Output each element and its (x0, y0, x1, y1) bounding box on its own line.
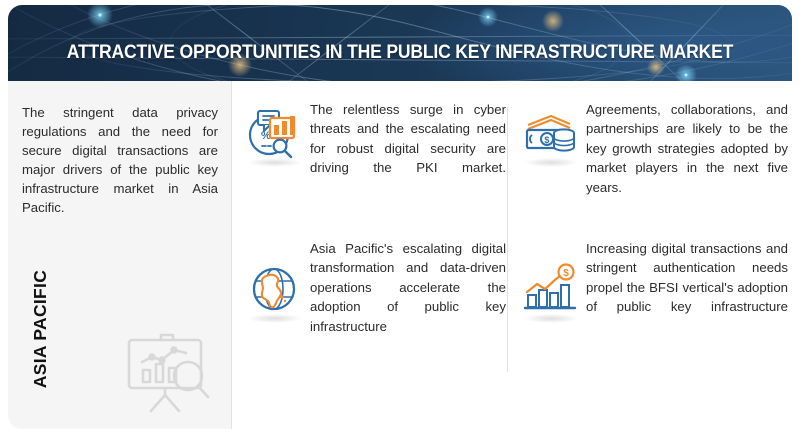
region-summary-panel: The stringent data privacy regulations a… (8, 81, 231, 429)
region-summary-text: The stringent data privacy regulations a… (22, 103, 218, 236)
growth-bar-chart-dollar-icon: $ (520, 259, 580, 319)
svg-text:$: $ (544, 135, 549, 145)
analytics-speech-bubble-search-icon: % (244, 103, 304, 163)
icon-shadow (524, 314, 578, 323)
insight-card-text: Increasing digital transactions and stri… (586, 239, 788, 336)
presentation-chart-magnifier-icon (116, 326, 224, 418)
page-title: ATTRACTIVE OPPORTUNITIES IN THE PUBLIC K… (47, 41, 753, 64)
insight-card-cyber-threats: % The relentless surge in cyber threats … (244, 103, 506, 197)
icon-shadow (248, 158, 302, 167)
column-divider-right (507, 107, 508, 372)
content-area: The stringent data privacy regulations a… (8, 81, 792, 429)
icon-shadow (248, 314, 302, 323)
insight-card-growth-strategies: $ Agreements, collaborations, and partne… (520, 103, 788, 216)
insight-card-text: Asia Pacific's escalating digital transf… (310, 239, 506, 355)
icon-shadow (524, 158, 578, 167)
money-banknote-coins-icon: $ (520, 103, 580, 163)
insight-card-bfsi-vertical: $ Increasing digital transactions and st… (520, 259, 788, 336)
region-label: ASIA PACIFIC (30, 269, 50, 389)
svg-text:$: $ (563, 268, 569, 279)
insight-card-text: Agreements, collaborations, and partners… (586, 100, 788, 216)
insight-card-asia-pacific-adoption: Asia Pacific's escalating digital transf… (244, 259, 506, 355)
column-divider-left (231, 81, 232, 429)
globe-icon (244, 259, 304, 319)
header-banner: ATTRACTIVE OPPORTUNITIES IN THE PUBLIC K… (8, 5, 792, 81)
insight-card-text: The relentless surge in cyber threats an… (310, 100, 506, 197)
